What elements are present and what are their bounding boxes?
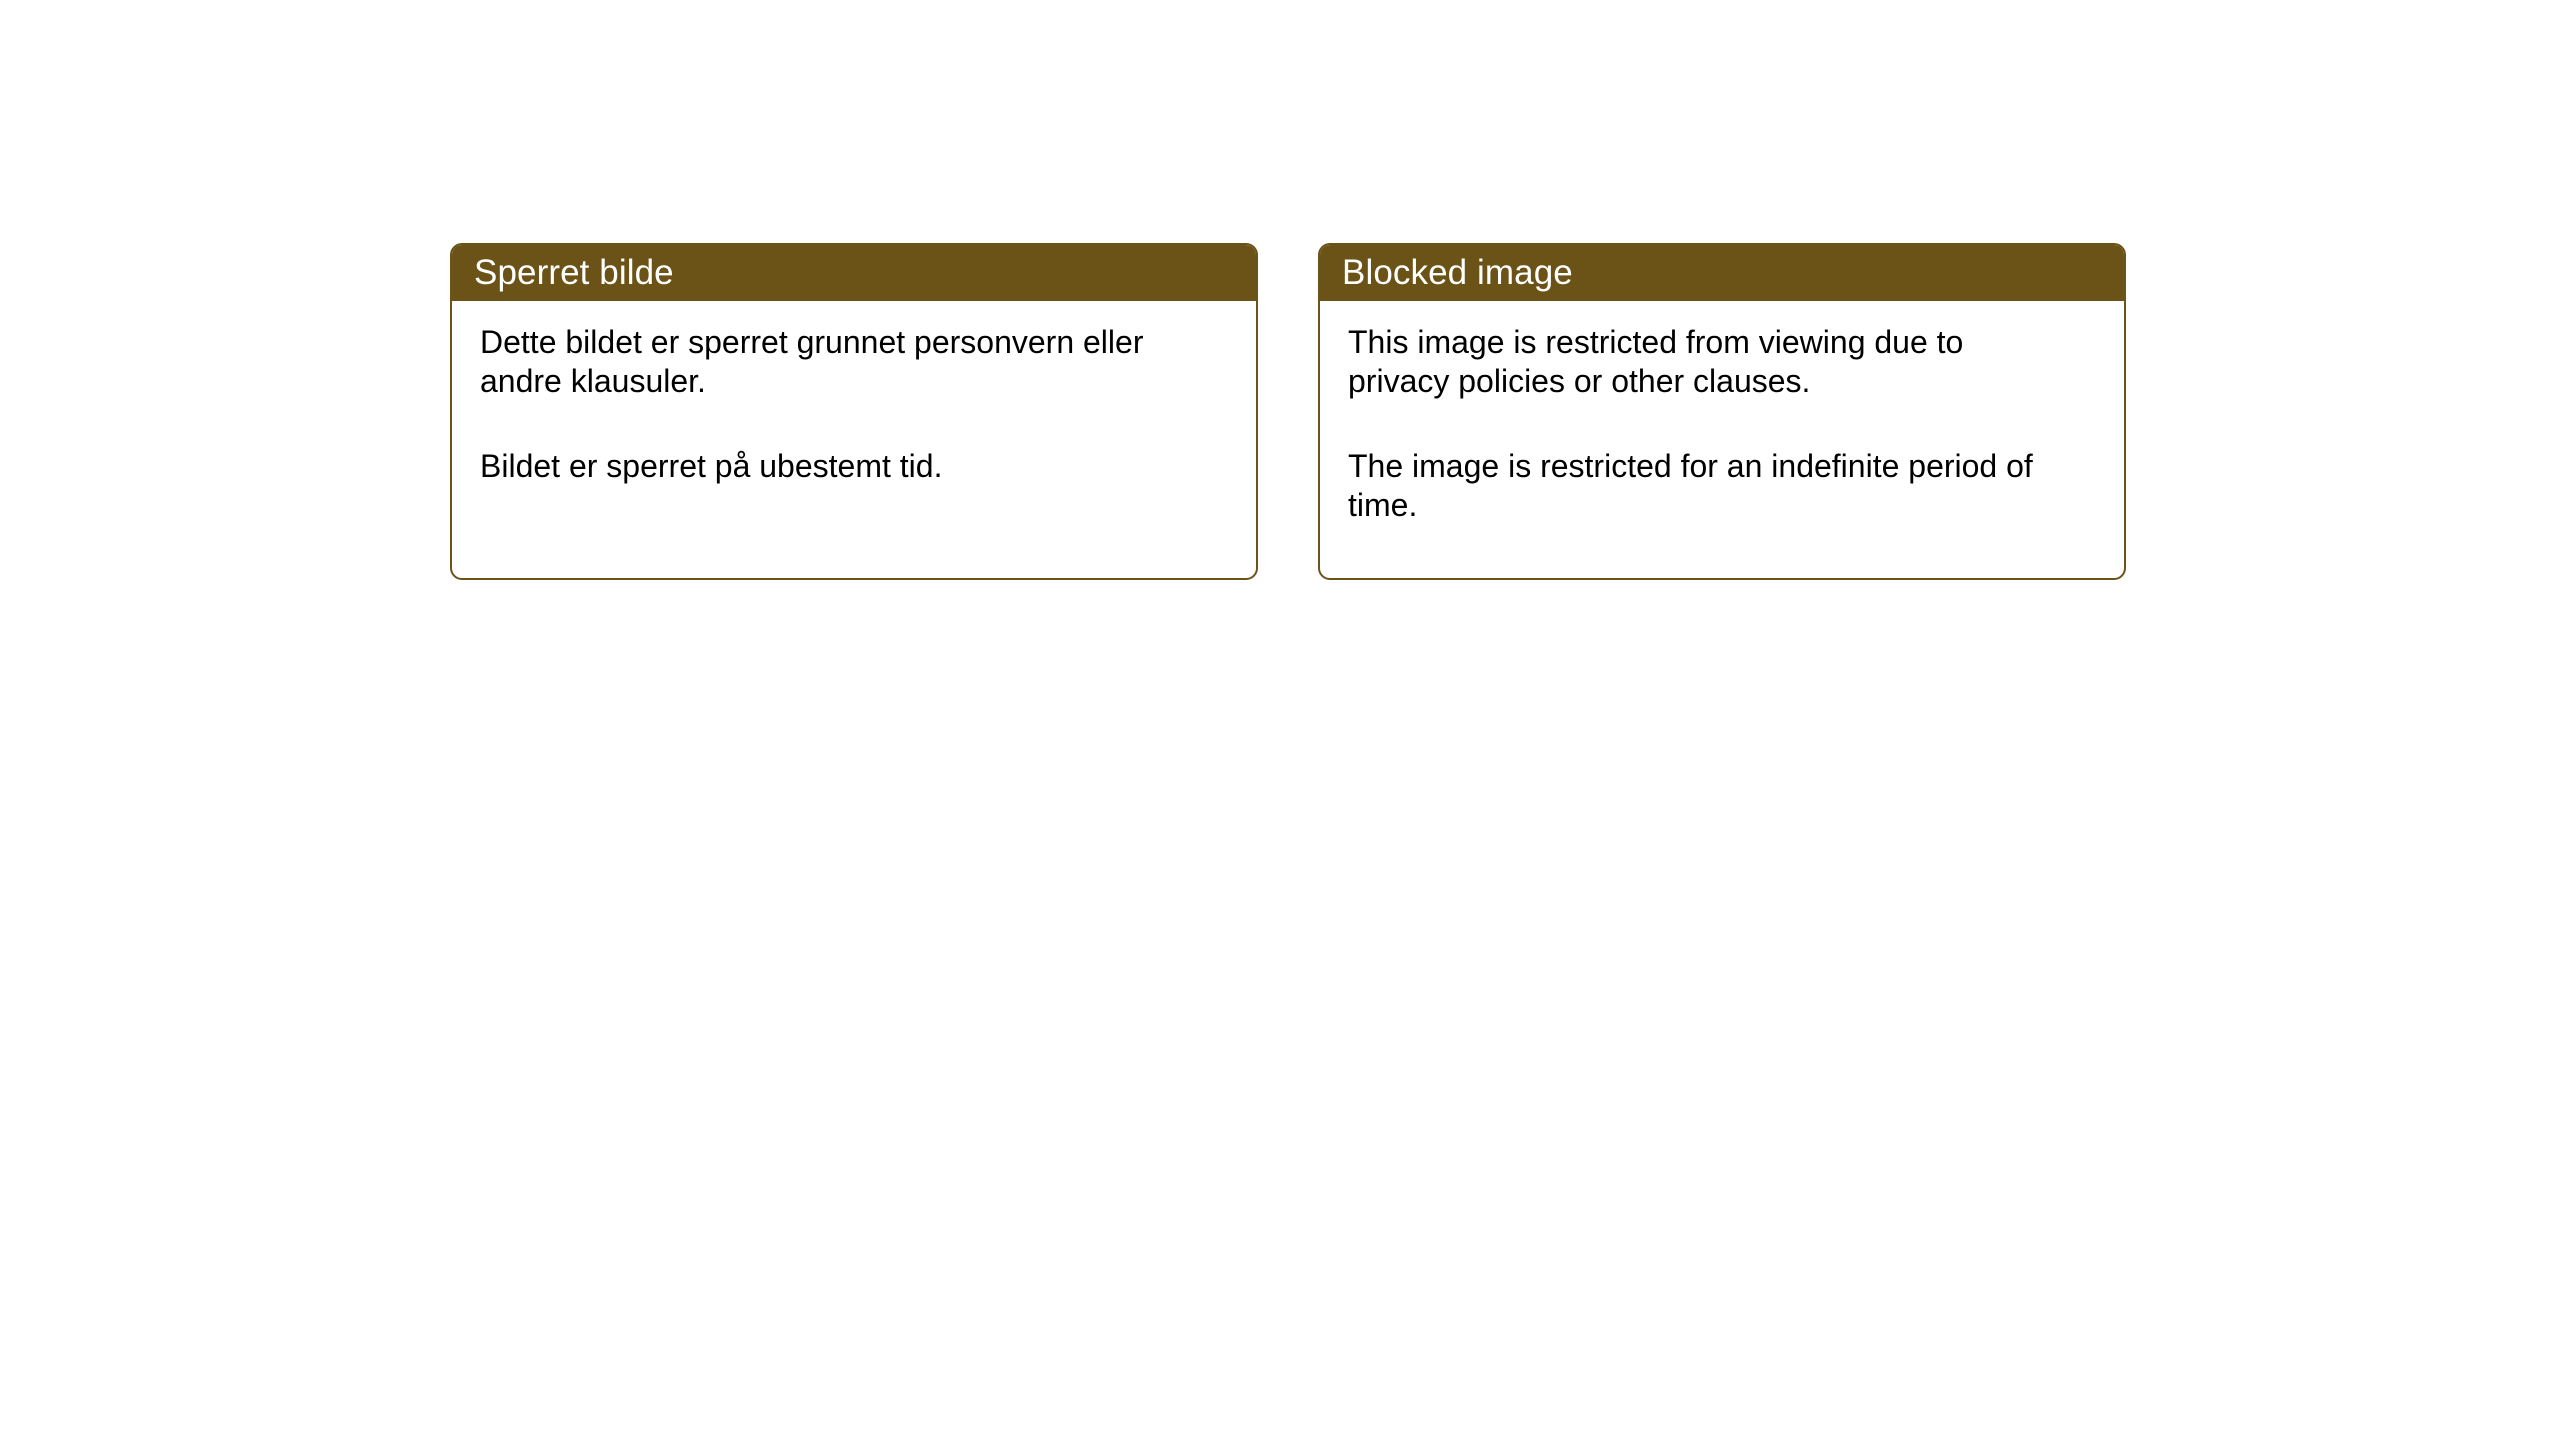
card-paragraph-secondary-english: The image is restricted for an indefinit… xyxy=(1348,447,2068,525)
card-header-english: Blocked image xyxy=(1318,243,2126,301)
card-header-norwegian: Sperret bilde xyxy=(450,243,1258,301)
card-body-english: This image is restricted from viewing du… xyxy=(1320,301,2124,525)
blocked-image-card-norwegian: Sperret bilde Dette bildet er sperret gr… xyxy=(450,243,1258,580)
card-paragraph-primary-english: This image is restricted from viewing du… xyxy=(1348,323,2068,401)
card-paragraph-primary-norwegian: Dette bildet er sperret grunnet personve… xyxy=(480,323,1200,401)
blocked-image-card-english: Blocked image This image is restricted f… xyxy=(1318,243,2126,580)
card-title-english: Blocked image xyxy=(1342,255,1573,290)
card-body-norwegian: Dette bildet er sperret grunnet personve… xyxy=(452,301,1256,486)
blocked-image-notice-area: Sperret bilde Dette bildet er sperret gr… xyxy=(0,0,2560,1440)
card-paragraph-secondary-norwegian: Bildet er sperret på ubestemt tid. xyxy=(480,447,1200,486)
card-title-norwegian: Sperret bilde xyxy=(474,255,674,290)
